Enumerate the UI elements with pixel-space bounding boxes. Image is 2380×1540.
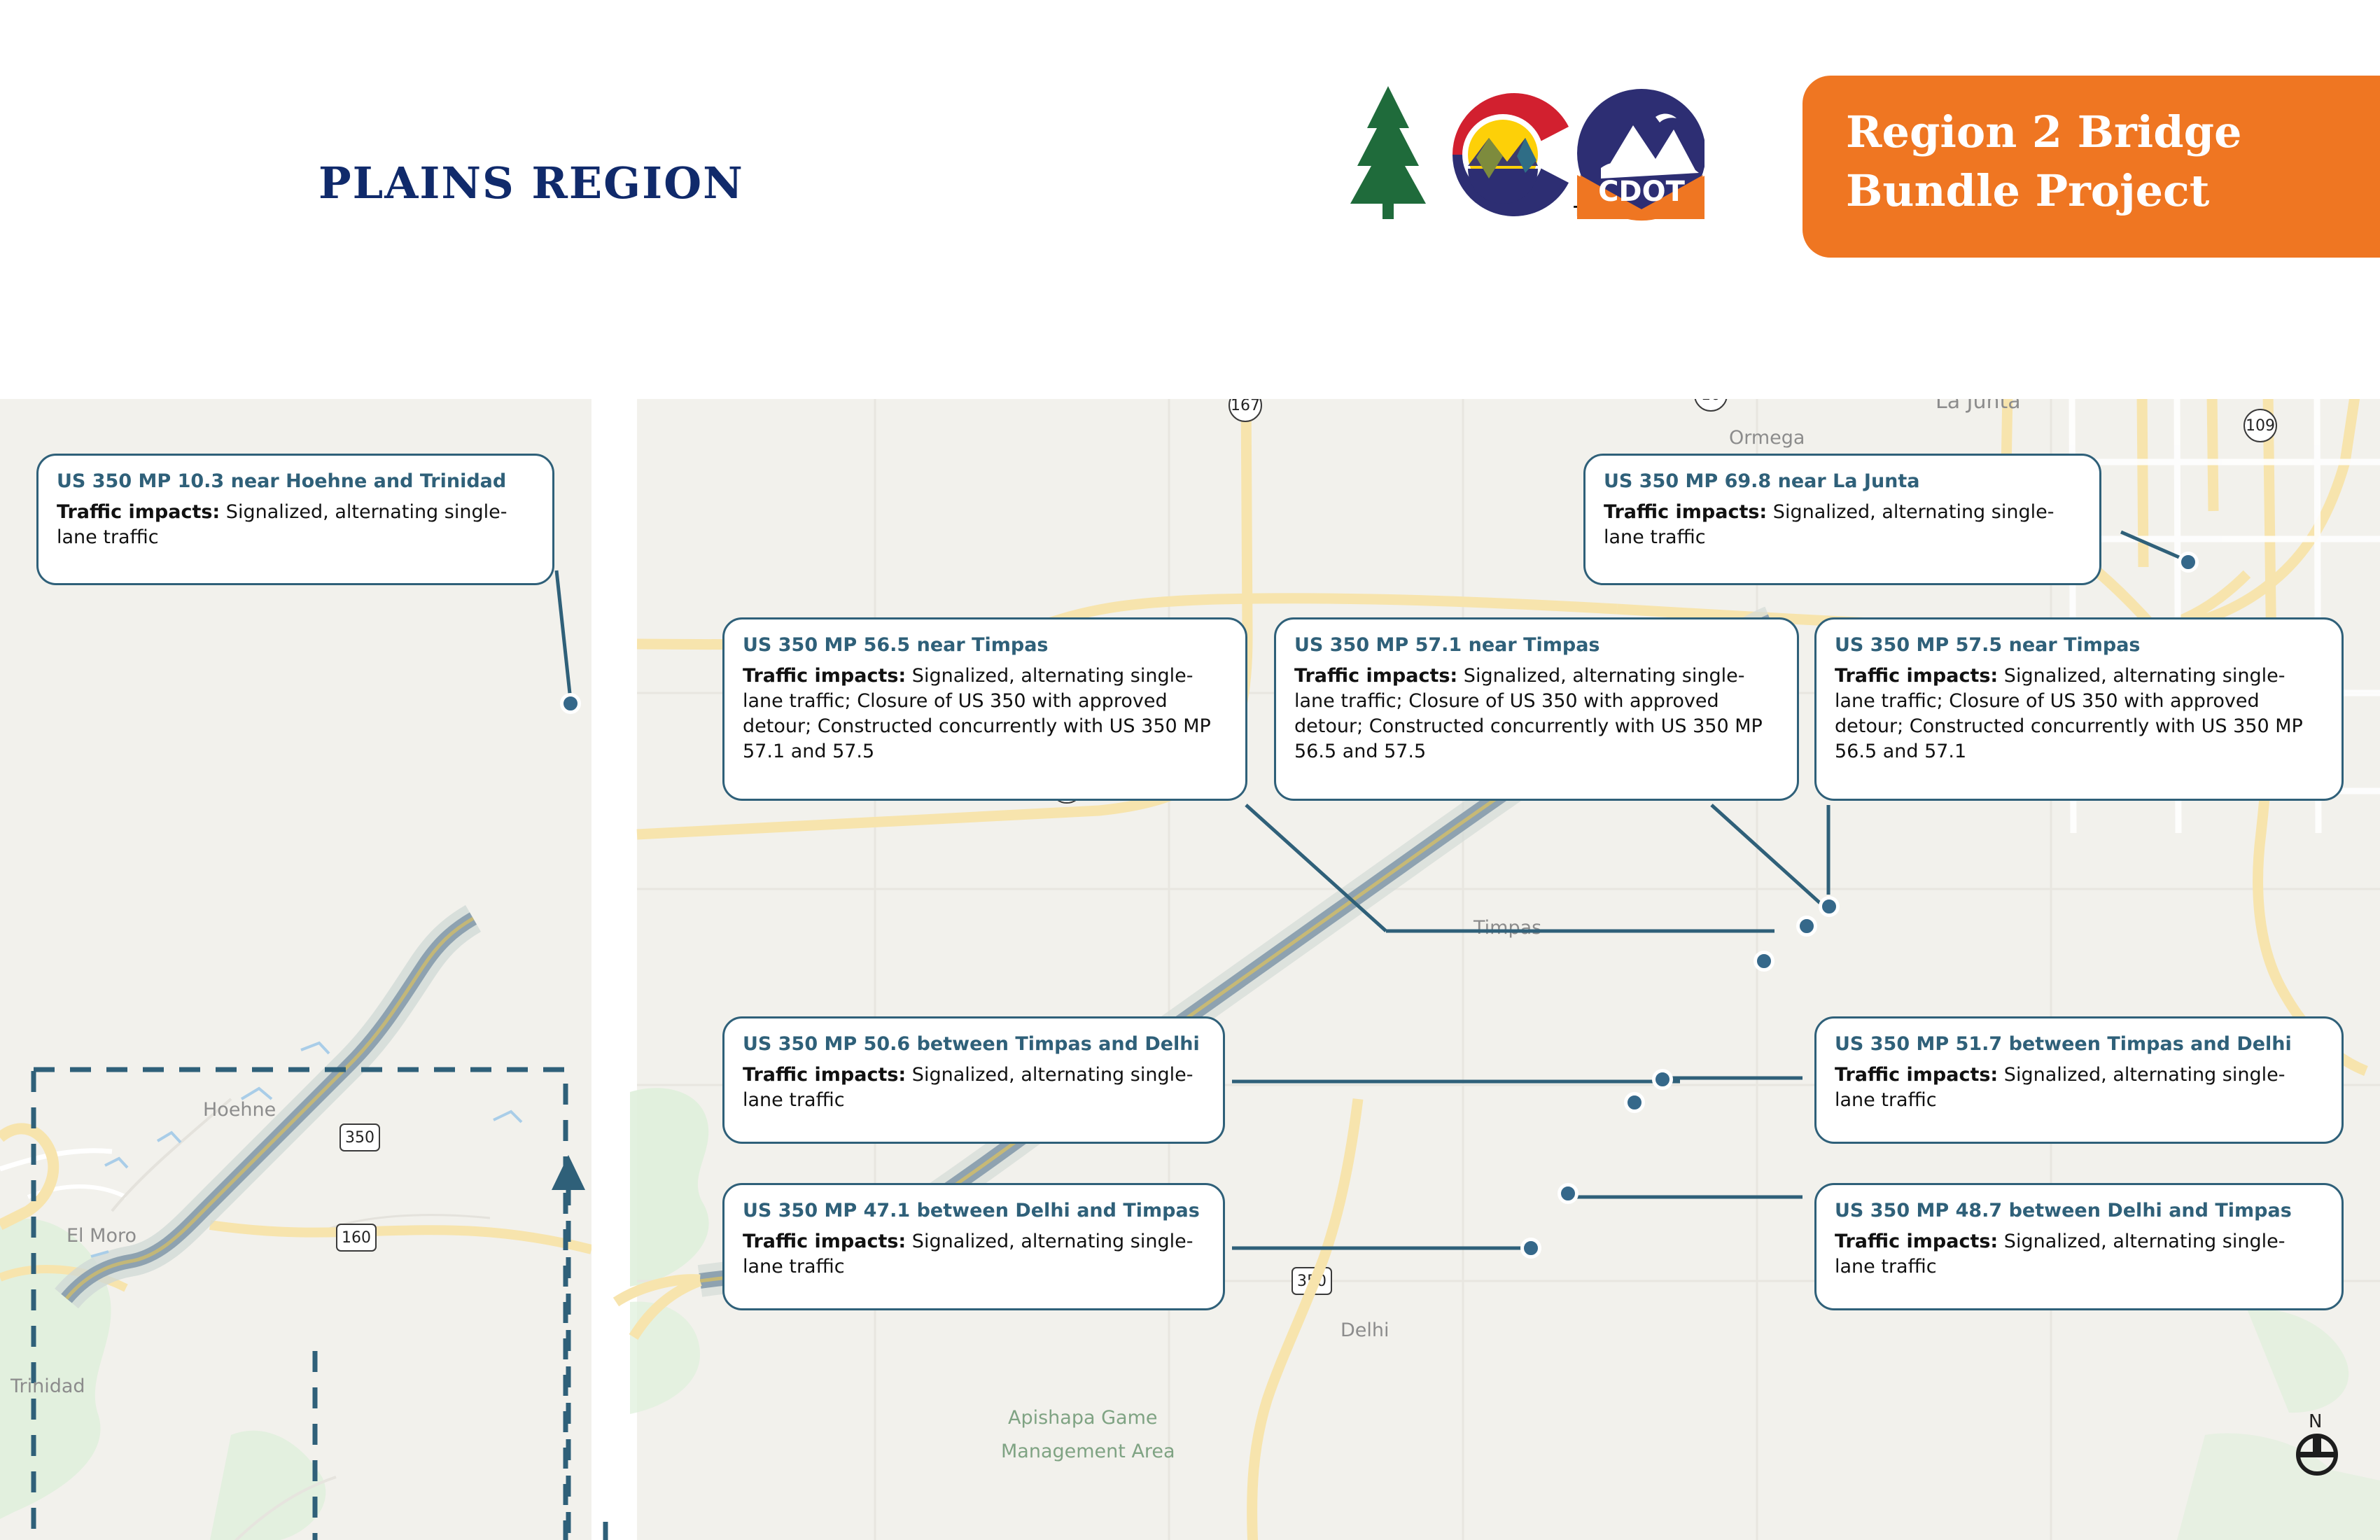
route-shield-160-inset: 160 bbox=[336, 1224, 377, 1252]
callout-body-label: Traffic impacts: bbox=[1835, 665, 1998, 687]
callout-title: US 350 MP 56.5 near Timpas bbox=[743, 633, 1228, 657]
inset-link-dashes bbox=[637, 399, 2380, 1540]
callout-mp-51-7[interactable]: US 350 MP 51.7 between Timpas and Delhi … bbox=[1814, 1016, 2344, 1144]
main-map-us350-corridor[interactable]: La Junta Ormega Whiterock Timpas Delhi A… bbox=[637, 399, 2380, 1540]
callout-mp-50-6[interactable]: US 350 MP 50.6 between Timpas and Delhi … bbox=[722, 1016, 1225, 1144]
callout-body: Traffic impacts: Signalized, alternating… bbox=[1835, 1229, 2325, 1280]
callout-body: Traffic impacts: Signalized, alternating… bbox=[1835, 664, 2325, 765]
callout-body-label: Traffic impacts: bbox=[743, 1064, 906, 1086]
marker-mp-56-5[interactable] bbox=[1753, 951, 1774, 972]
callout-mp-47-1[interactable]: US 350 MP 47.1 between Delhi and Timpas … bbox=[722, 1183, 1225, 1310]
callout-body-label: Traffic impacts: bbox=[1835, 1064, 1998, 1086]
marker-mp-57-5[interactable] bbox=[1819, 896, 1840, 917]
callout-mp-57-5[interactable]: US 350 MP 57.5 near Timpas Traffic impac… bbox=[1814, 617, 2344, 801]
callout-body: Traffic impacts: Signalized, alternating… bbox=[1835, 1063, 2325, 1113]
callout-body: Traffic impacts: Signalized, alternating… bbox=[743, 1229, 1206, 1280]
callout-body: Traffic impacts: Signalized, alternating… bbox=[743, 664, 1228, 765]
callout-mp-10-3[interactable]: US 350 MP 10.3 near Hoehne and Trinidad … bbox=[36, 454, 554, 585]
pine-tree-icon bbox=[1350, 86, 1426, 219]
callout-mp-69-8[interactable]: US 350 MP 69.8 near La Junta Traffic imp… bbox=[1583, 454, 2101, 585]
marker-mp-69-8[interactable] bbox=[2178, 552, 2199, 573]
callout-mp-57-1[interactable]: US 350 MP 57.1 near Timpas Traffic impac… bbox=[1274, 617, 1799, 801]
callout-mp-48-7[interactable]: US 350 MP 48.7 between Delhi and Timpas … bbox=[1814, 1183, 2344, 1310]
callout-body-label: Traffic impacts: bbox=[743, 1231, 906, 1252]
callout-title: US 350 MP 57.1 near Timpas bbox=[1294, 633, 1780, 657]
highway-160 bbox=[210, 1225, 591, 1249]
compass-icon bbox=[2295, 1432, 2339, 1481]
marker-mp-50-6[interactable] bbox=[1624, 1092, 1645, 1113]
colorado-c-icon bbox=[1452, 93, 1569, 216]
callout-body-label: Traffic impacts: bbox=[57, 501, 220, 523]
marker-mp-51-7[interactable] bbox=[1652, 1069, 1673, 1090]
banner-title-line1: Region 2 Bridge bbox=[1846, 106, 2241, 157]
cdot-badge-icon: CDOT bbox=[1577, 89, 1704, 220]
page-header: PLAINS REGION TM bbox=[0, 0, 2380, 399]
page-title: PLAINS REGION bbox=[318, 157, 744, 209]
callout-title: US 350 MP 50.6 between Timpas and Delhi bbox=[743, 1032, 1206, 1056]
callout-body: Traffic impacts: Signalized, alternating… bbox=[1604, 500, 2082, 550]
callout-body-label: Traffic impacts: bbox=[1294, 665, 1457, 687]
route-shield-350-inset: 350 bbox=[339, 1123, 380, 1151]
callout-body-label: Traffic impacts: bbox=[1835, 1231, 1998, 1252]
callout-title: US 350 MP 69.8 near La Junta bbox=[1604, 470, 2082, 493]
marker-mp-47-1[interactable] bbox=[1520, 1238, 1541, 1259]
callout-body: Traffic impacts: Signalized, alternating… bbox=[743, 1063, 1206, 1113]
marker-mp-48-7[interactable] bbox=[1557, 1183, 1578, 1204]
callout-body-label: Traffic impacts: bbox=[1604, 501, 1767, 523]
callout-title: US 350 MP 47.1 between Delhi and Timpas bbox=[743, 1199, 1206, 1223]
logo-group: TM CDOT bbox=[1326, 73, 1704, 234]
callout-title: US 350 MP 48.7 between Delhi and Timpas bbox=[1835, 1199, 2325, 1223]
callout-title: US 350 MP 10.3 near Hoehne and Trinidad bbox=[57, 470, 535, 493]
project-title-banner: Region 2 Bridge Bundle Project bbox=[1802, 76, 2380, 258]
callout-body-label: Traffic impacts: bbox=[743, 665, 906, 687]
callout-title: US 350 MP 51.7 between Timpas and Delhi bbox=[1835, 1032, 2325, 1056]
map-label-trinidad: Trinidad bbox=[10, 1375, 85, 1397]
highway-yellow bbox=[0, 1128, 53, 1225]
callout-mp-56-5[interactable]: US 350 MP 56.5 near Timpas Traffic impac… bbox=[722, 617, 1247, 801]
banner-title-line2: Bundle Project bbox=[1846, 165, 2209, 216]
callout-body: Traffic impacts: Signalized, alternating… bbox=[57, 500, 535, 550]
callout-title: US 350 MP 57.5 near Timpas bbox=[1835, 633, 2325, 657]
map-label-el-moro: El Moro bbox=[66, 1225, 136, 1247]
north-arrow-compass: N bbox=[2295, 1414, 2339, 1477]
colorado-cdot-logo-svg: TM CDOT bbox=[1326, 73, 1704, 234]
map-label-hoehne: Hoehne bbox=[203, 1099, 276, 1121]
marker-mp-57-1[interactable] bbox=[1796, 916, 1817, 937]
callout-body: Traffic impacts: Signalized, alternating… bbox=[1294, 664, 1780, 765]
compass-north-label: N bbox=[2309, 1411, 2322, 1432]
marker-mp-10-3[interactable] bbox=[560, 693, 581, 714]
cdot-wordmark: CDOT bbox=[1598, 176, 1686, 208]
